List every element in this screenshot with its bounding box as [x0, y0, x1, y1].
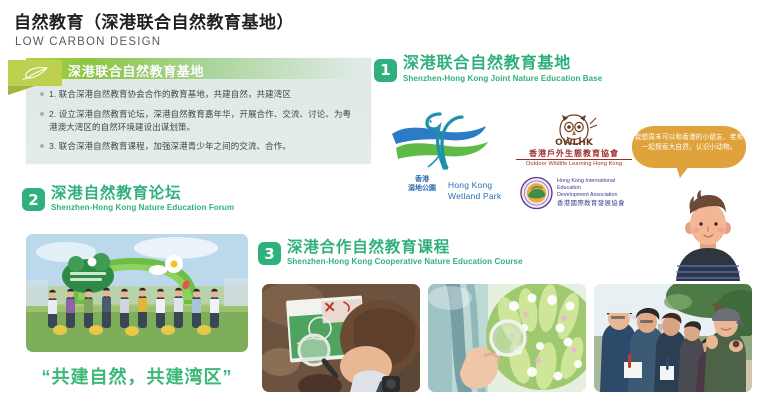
child-magnifier-drawing-photo	[262, 284, 420, 392]
section-header-2: 2 深港自然教育论坛 Shenzhen-Hong Kong Nature Edu…	[22, 186, 234, 214]
hong-kong-wetland-park-logo: 香港 湿地公園 Hong Kong Wetland Park	[382, 104, 510, 212]
page-title: 自然教育（深港联合自然教育基地）	[14, 8, 294, 33]
wetland-park-en-line1: Hong Kong	[448, 180, 492, 190]
bullet-dot	[40, 112, 44, 116]
list-item: 1. 联合深港自然教育协会合作的教育基地，共建自然，共建湾区	[40, 88, 356, 101]
section-header-3: 3 深港合作自然教育课程 Shenzhen-Hong Kong Cooperat…	[258, 240, 523, 268]
info-card-bullets: 1. 联合深港自然教育协会合作的教育基地，共建自然，共建湾区 2. 设立深港自然…	[40, 88, 356, 160]
section-title-en-2: Shenzhen-Hong Kong Nature Education Foru…	[51, 203, 234, 213]
hand-magnifier-flowers-photo	[428, 284, 586, 392]
wetland-park-cn-line1: 香港	[415, 176, 429, 183]
slide-canvas: 自然教育（深港联合自然教育基地） LOW CARBON DESIGN 深港联合自…	[0, 0, 760, 407]
quote-text: “共建自然，共建湾区”	[26, 363, 248, 389]
group-outdoor-learning-photo	[594, 284, 752, 392]
owlhk-logo: OWLHK 香港戶外生態教育協會 Outdoor Wildlife Learni…	[516, 112, 632, 172]
hkieda-en-line1: Hong Kong International Education	[557, 178, 638, 193]
section-title-en-1: Shenzhen-Hong Kong Joint Nature Educatio…	[403, 74, 602, 84]
hkieda-cn: 香港國際教育發展協會	[557, 200, 638, 209]
section-number-badge-2: 2	[22, 188, 45, 211]
section-number-badge-1: 1	[374, 59, 397, 82]
wetland-park-cn-line2: 湿地公園	[408, 185, 436, 192]
section-title-cn-3: 深港合作自然教育课程	[287, 240, 523, 256]
cartoon-boy	[668, 184, 748, 284]
section-number-badge-3: 3	[258, 242, 281, 265]
section-title-cn-2: 深港自然教育论坛	[51, 186, 234, 202]
section-number-1: 1	[374, 59, 397, 82]
section-title-cn-1: 深港联合自然教育基地	[403, 56, 602, 73]
bullet-dot	[40, 92, 44, 96]
owlhk-logo-cn: 香港戶外生態教育協會	[516, 148, 632, 159]
bullet-text: 2. 设立深港自然教育论坛，深港自然教育嘉年华，开展合作、交流、讨论、为粤港澳大…	[49, 108, 356, 134]
section-number-2: 2	[22, 188, 45, 211]
info-card-title: 深港联合自然教育基地	[68, 61, 204, 80]
owlhk-logo-en: Outdoor Wildlife Learning Hong Kong	[516, 159, 632, 167]
leaf-icon	[8, 60, 62, 86]
list-item: 2. 设立深港自然教育论坛，深港自然教育嘉年华，开展合作、交流、讨论、为粤港澳大…	[40, 108, 356, 134]
bullet-text: 3. 联合深港自然教育课程，加强深港青少年之间的交流、合作。	[49, 140, 291, 153]
speech-bubble-text: 我想周末可以和香港的小朋友、老师一起探索大自然，认识小动物。	[634, 133, 744, 153]
forum-ceremony-photo	[26, 234, 248, 352]
page-subtitle: LOW CARBON DESIGN	[15, 36, 161, 48]
bullet-dot	[40, 144, 44, 148]
speech-bubble-tail	[676, 165, 690, 178]
owlhk-acronym: OWLHK	[555, 138, 594, 148]
wetland-park-en-line2: Wetland Park	[448, 191, 501, 201]
section-number-3: 3	[258, 242, 281, 265]
section-title-en-3: Shenzhen-Hong Kong Cooperative Nature Ed…	[287, 257, 523, 267]
section-header-1: 1 深港联合自然教育基地 Shenzhen-Hong Kong Joint Na…	[374, 56, 602, 84]
hkieda-en-line2: Development Association	[557, 192, 638, 199]
wetland-park-logo-cn: 香港 湿地公園	[396, 176, 448, 194]
hkieda-logo: Hong Kong International Education Develo…	[520, 176, 638, 224]
wetland-park-logo-en: Hong Kong Wetland Park	[448, 180, 510, 201]
list-item: 3. 联合深港自然教育课程，加强深港青少年之间的交流、合作。	[40, 140, 356, 153]
bullet-text: 1. 联合深港自然教育协会合作的教育基地，共建自然，共建湾区	[49, 88, 291, 101]
